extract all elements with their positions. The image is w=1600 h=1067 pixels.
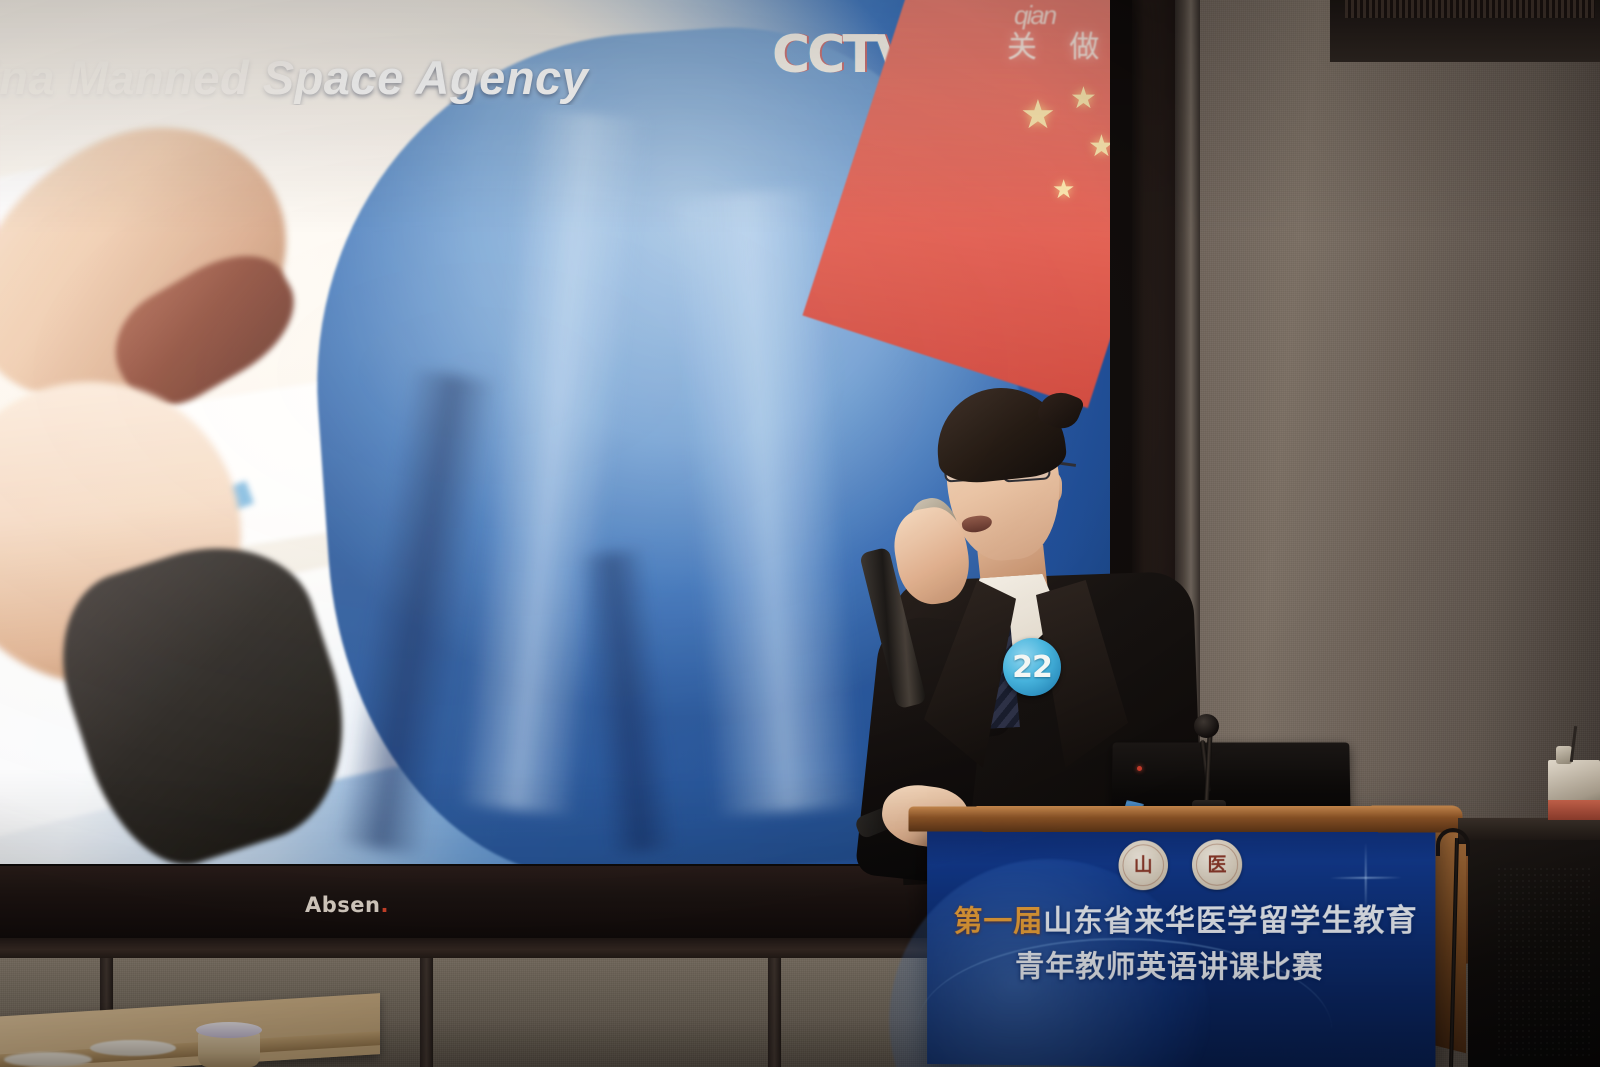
ceiling-vent-grill: [1345, 0, 1595, 18]
equipment-rack-mesh: [1496, 866, 1592, 1056]
receiver-red-base: [1548, 800, 1600, 820]
flag-chinese-text: 关 做: [1007, 22, 1110, 66]
podium-banner-panel: 山 医 第一届山东省来华医学留学生教育 青年教师英语讲课比赛: [927, 815, 1435, 1067]
banner-title-highlight: 第一届: [954, 904, 1043, 939]
banner-title-line-2: 青年教师英语讲课比赛: [1015, 942, 1417, 987]
panel-divider-2: [420, 958, 433, 1067]
table-plate-2: [4, 1052, 92, 1067]
banner-title-line-1: 第一届山东省来华医学留学生教育: [954, 895, 1423, 940]
flag-star-4: ★: [1052, 174, 1075, 204]
emblem-medical-university: 医: [1192, 839, 1242, 890]
table-plate-1: [90, 1040, 176, 1056]
banner-title-rest: 山东省来华医学留学生教育: [1043, 903, 1417, 939]
flag-star-2: ★: [1070, 84, 1097, 114]
conference-room-scene: China Manned Space Agency CCTV + 十三 ★ ★ …: [0, 0, 1600, 1067]
table-cup-lid: [196, 1022, 262, 1038]
brand-text: Absen: [305, 893, 380, 917]
brand-dot: .: [380, 893, 388, 917]
flag-star-1: ★: [1020, 100, 1056, 130]
emblem-shandong-university: 山: [1119, 840, 1169, 890]
cable-hook: [1436, 828, 1470, 856]
contestant-number-badge: 22: [1003, 638, 1061, 696]
podium-top-surface: [908, 806, 1462, 833]
laptop-power-led: [1137, 766, 1142, 771]
screen-brand-logo: Absen.: [305, 893, 389, 917]
slide-title: China Manned Space Agency: [0, 50, 682, 105]
flag-star-3: ★: [1088, 132, 1110, 162]
gooseneck-mic-head[interactable]: [1194, 714, 1219, 738]
panel-divider-3: [768, 958, 781, 1067]
badge-number: 22: [1012, 650, 1052, 685]
